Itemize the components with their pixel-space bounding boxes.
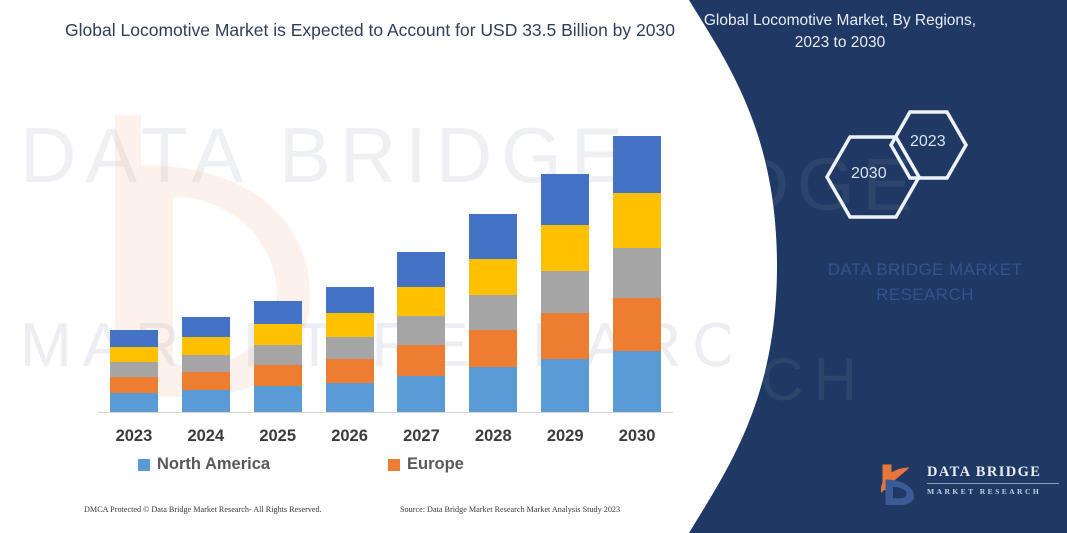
logo-mark-icon — [875, 460, 923, 508]
bar-segment-asia-pacific[interactable] — [110, 362, 158, 377]
bar-segment-north-america[interactable] — [182, 390, 230, 412]
bar-segment-south-america[interactable] — [613, 193, 661, 247]
bar-2025[interactable] — [254, 301, 302, 412]
legend-item-europe[interactable]: Europe — [388, 455, 464, 474]
bar-segment-asia-pacific[interactable] — [326, 337, 374, 359]
logo-top-line: DATA BRIDGE — [927, 464, 1059, 481]
x-axis-label-2026: 2026 — [315, 427, 385, 446]
logo-wordmark: DATA BRIDGE MARKET RESEARCH — [927, 464, 1059, 496]
legend-label: Europe — [407, 455, 464, 474]
bar-segment-europe[interactable] — [326, 359, 374, 383]
bar-segment-middle-east-and-africa[interactable] — [613, 136, 661, 193]
hex-badge-group: 2030 2023 — [820, 95, 1040, 220]
bar-2027[interactable] — [397, 252, 445, 412]
bar-2030[interactable] — [613, 136, 661, 412]
bar-segment-middle-east-and-africa[interactable] — [469, 214, 517, 259]
infographic-root: DATA BRIDGE MARKET RESEARCH Global Locom… — [0, 0, 1067, 533]
bar-segment-north-america[interactable] — [541, 359, 589, 412]
bar-segment-south-america[interactable] — [469, 259, 517, 295]
bar-segment-north-america[interactable] — [397, 376, 445, 412]
chart-legend: North AmericaEurope — [98, 455, 673, 481]
bar-segment-middle-east-and-africa[interactable] — [254, 301, 302, 325]
brand-tagline: DATA BRIDGE MARKET RESEARCH — [790, 258, 1060, 307]
x-axis-labels: 20232024202520262027202820292030 — [98, 427, 673, 451]
footer: DMCA Protected © Data Bridge Market Rese… — [0, 505, 730, 529]
hex-2030-shape — [827, 137, 919, 217]
right-panel-title: Global Locomotive Market, By Regions, 20… — [690, 10, 990, 55]
bar-segment-asia-pacific[interactable] — [397, 316, 445, 345]
legend-label: North America — [157, 455, 270, 474]
legend-swatch-icon — [138, 459, 150, 471]
bar-segment-europe[interactable] — [182, 372, 230, 390]
bar-segment-north-america[interactable] — [613, 351, 661, 412]
chart-pane: DATA BRIDGE MARKET RESEARCH Global Locom… — [0, 0, 730, 533]
footer-copyright: DMCA Protected © Data Bridge Market Rese… — [84, 505, 322, 514]
x-axis-label-2024: 2024 — [171, 427, 241, 446]
bar-segment-south-america[interactable] — [110, 347, 158, 362]
bar-segment-north-america[interactable] — [110, 393, 158, 413]
x-axis-label-2030: 2030 — [602, 427, 672, 446]
bar-segment-europe[interactable] — [110, 377, 158, 392]
bar-2024[interactable] — [182, 317, 230, 412]
bar-segment-middle-east-and-africa[interactable] — [110, 330, 158, 347]
bar-segment-asia-pacific[interactable] — [613, 248, 661, 298]
bar-segment-europe[interactable] — [613, 298, 661, 351]
footer-source: Source: Data Bridge Market Research Mark… — [400, 505, 620, 514]
hex-badge-outlines — [820, 95, 1040, 220]
bar-segment-south-america[interactable] — [326, 313, 374, 337]
bar-segment-south-america[interactable] — [541, 225, 589, 271]
stacked-bar-chart: 20232024202520262027202820292030 North A… — [0, 0, 730, 533]
logo-bottom-line: MARKET RESEARCH — [927, 487, 1059, 496]
svg-text:RCH: RCH — [707, 346, 867, 413]
x-axis-label-2023: 2023 — [99, 427, 169, 446]
bar-segment-asia-pacific[interactable] — [254, 345, 302, 365]
x-axis-label-2029: 2029 — [530, 427, 600, 446]
bar-segment-north-america[interactable] — [326, 383, 374, 412]
bar-segment-asia-pacific[interactable] — [541, 271, 589, 313]
bar-segment-north-america[interactable] — [254, 386, 302, 412]
x-axis-label-2028: 2028 — [458, 427, 528, 446]
bar-2023[interactable] — [110, 330, 158, 412]
bar-segment-middle-east-and-africa[interactable] — [326, 287, 374, 313]
x-axis-label-2025: 2025 — [243, 427, 313, 446]
logo-divider — [927, 483, 1059, 484]
bar-segment-south-america[interactable] — [182, 337, 230, 355]
bar-segment-asia-pacific[interactable] — [182, 355, 230, 372]
data-bridge-logo: DATA BRIDGE MARKET RESEARCH — [875, 458, 1060, 510]
bar-segment-europe[interactable] — [254, 365, 302, 386]
x-axis-line — [98, 412, 673, 413]
bar-segment-north-america[interactable] — [469, 367, 517, 412]
bar-segment-asia-pacific[interactable] — [469, 295, 517, 330]
bar-segment-middle-east-and-africa[interactable] — [182, 317, 230, 337]
bar-segment-europe[interactable] — [469, 330, 517, 368]
bar-segment-south-america[interactable] — [397, 287, 445, 316]
x-axis-label-2027: 2027 — [386, 427, 456, 446]
bar-segment-middle-east-and-africa[interactable] — [397, 252, 445, 287]
bar-segment-south-america[interactable] — [254, 324, 302, 345]
legend-item-north-america[interactable]: North America — [138, 455, 270, 474]
bar-2029[interactable] — [541, 174, 589, 412]
bar-segment-europe[interactable] — [397, 345, 445, 376]
legend-swatch-icon — [388, 459, 400, 471]
bar-segment-europe[interactable] — [541, 313, 589, 359]
bar-2028[interactable] — [469, 214, 517, 412]
bar-segment-middle-east-and-africa[interactable] — [541, 174, 589, 226]
bar-2026[interactable] — [326, 287, 374, 412]
